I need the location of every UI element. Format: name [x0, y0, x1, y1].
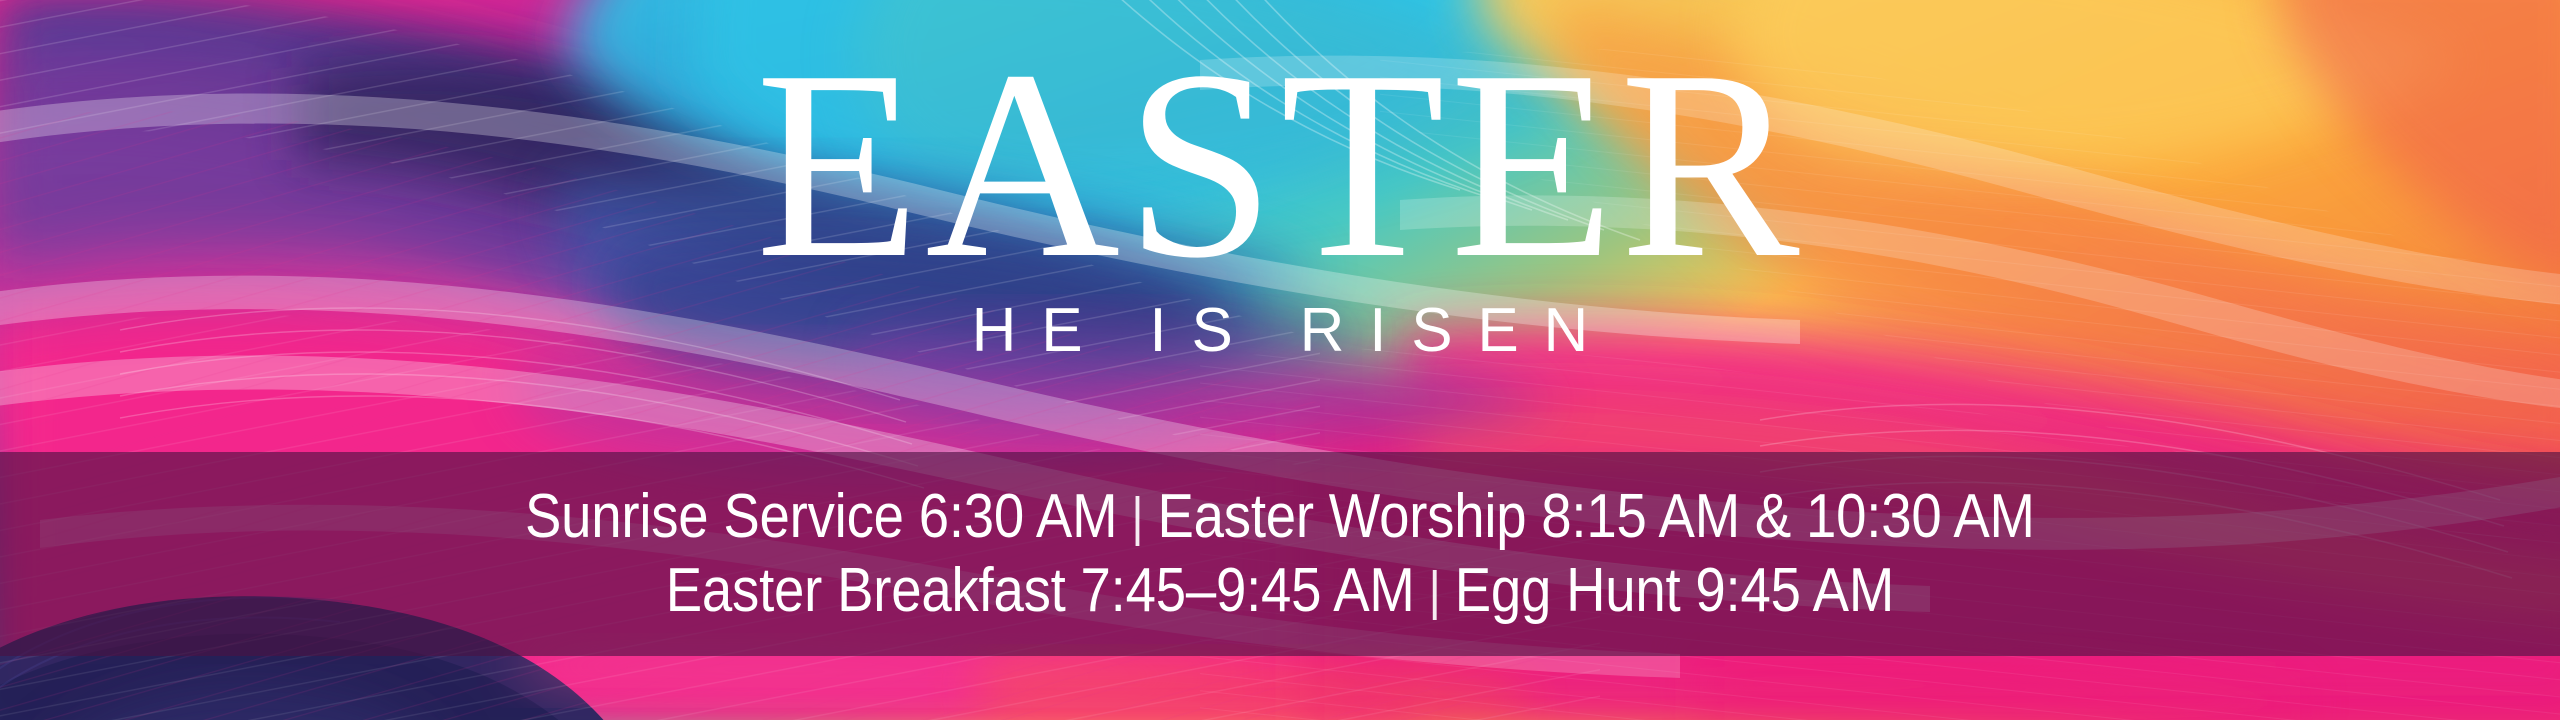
details-line-2: Easter Breakfast 7:45–9:45 AM|Egg Hunt 9… [666, 556, 1894, 626]
service-details-bar: Sunrise Service 6:30 AM|Easter Worship 8… [0, 452, 2560, 656]
easter-worship-text: Easter Worship 8:15 AM & 10:30 AM [1158, 482, 2035, 551]
egg-hunt-text: Egg Hunt 9:45 AM [1455, 556, 1894, 625]
details-separator-2: | [1415, 562, 1455, 622]
easter-breakfast-text: Easter Breakfast 7:45–9:45 AM [666, 556, 1415, 625]
easter-banner: EASTER HE IS RISEN Sunrise Service 6:30 … [0, 0, 2560, 720]
sunrise-service-text: Sunrise Service 6:30 AM [525, 482, 1117, 551]
details-separator-1: | [1117, 488, 1157, 548]
details-line-1: Sunrise Service 6:30 AM|Easter Worship 8… [525, 482, 2035, 552]
